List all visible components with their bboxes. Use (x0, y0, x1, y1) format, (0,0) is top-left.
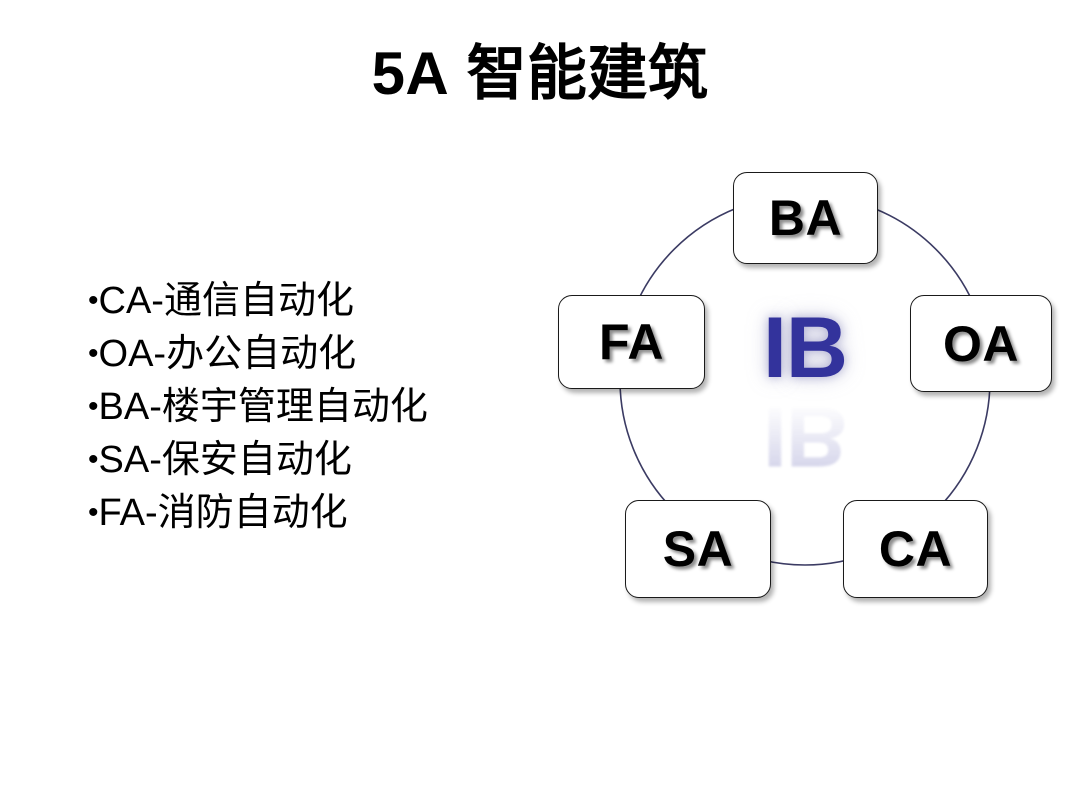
diagram-node-oa-label: OA (943, 319, 1019, 369)
list-item-code: CA- (99, 280, 164, 322)
diagram-node-sa[interactable]: SA (625, 500, 771, 598)
list-item-text: 通信自动化 (164, 278, 354, 322)
diagram-node-ba-label: BA (769, 193, 842, 243)
diagram-node-fa[interactable]: FA (558, 295, 705, 389)
list-item: •OA-办公自动化 (88, 327, 528, 380)
diagram-node-ca[interactable]: CA (843, 500, 988, 598)
diagram-node-oa[interactable]: OA (910, 295, 1052, 392)
list-item-code: FA- (99, 492, 158, 534)
diagram-node-sa-label: SA (663, 524, 733, 574)
bullet-dot-icon: • (88, 337, 99, 370)
diagram-node-fa-label: FA (599, 317, 664, 367)
page-title-latin: 5A (372, 40, 450, 107)
bullet-dot-icon: • (88, 443, 99, 476)
list-item-text: 消防自动化 (158, 490, 348, 534)
bullet-dot-icon: • (88, 390, 99, 423)
diagram-node-ba[interactable]: BA (733, 172, 878, 264)
page-title-cjk: 智能建筑 (466, 39, 708, 109)
page-title-space (449, 40, 466, 107)
slide-canvas: 5A 智能建筑 •CA-通信自动化 •OA-办公自动化 •BA-楼宇管理自动化 … (0, 0, 1080, 810)
page-title: 5A 智能建筑 (0, 42, 1080, 106)
list-item-text: 楼宇管理自动化 (162, 384, 428, 428)
list-item-text: 办公自动化 (166, 331, 356, 375)
cycle-diagram: IB IB BA OA CA SA FA (540, 150, 1070, 615)
list-item: •FA-消防自动化 (88, 486, 528, 539)
list-item-code: OA- (99, 333, 167, 375)
list-item-code: BA- (99, 386, 162, 428)
list-item-code: SA- (99, 439, 162, 481)
list-item: •SA-保安自动化 (88, 433, 528, 486)
list-item: •BA-楼宇管理自动化 (88, 380, 528, 433)
diagram-node-ca-label: CA (879, 524, 952, 574)
bullet-list: •CA-通信自动化 •OA-办公自动化 •BA-楼宇管理自动化 •SA-保安自动… (88, 274, 528, 539)
bullet-dot-icon: • (88, 284, 99, 317)
list-item: •CA-通信自动化 (88, 274, 528, 327)
bullet-dot-icon: • (88, 496, 99, 529)
list-item-text: 保安自动化 (162, 437, 352, 481)
